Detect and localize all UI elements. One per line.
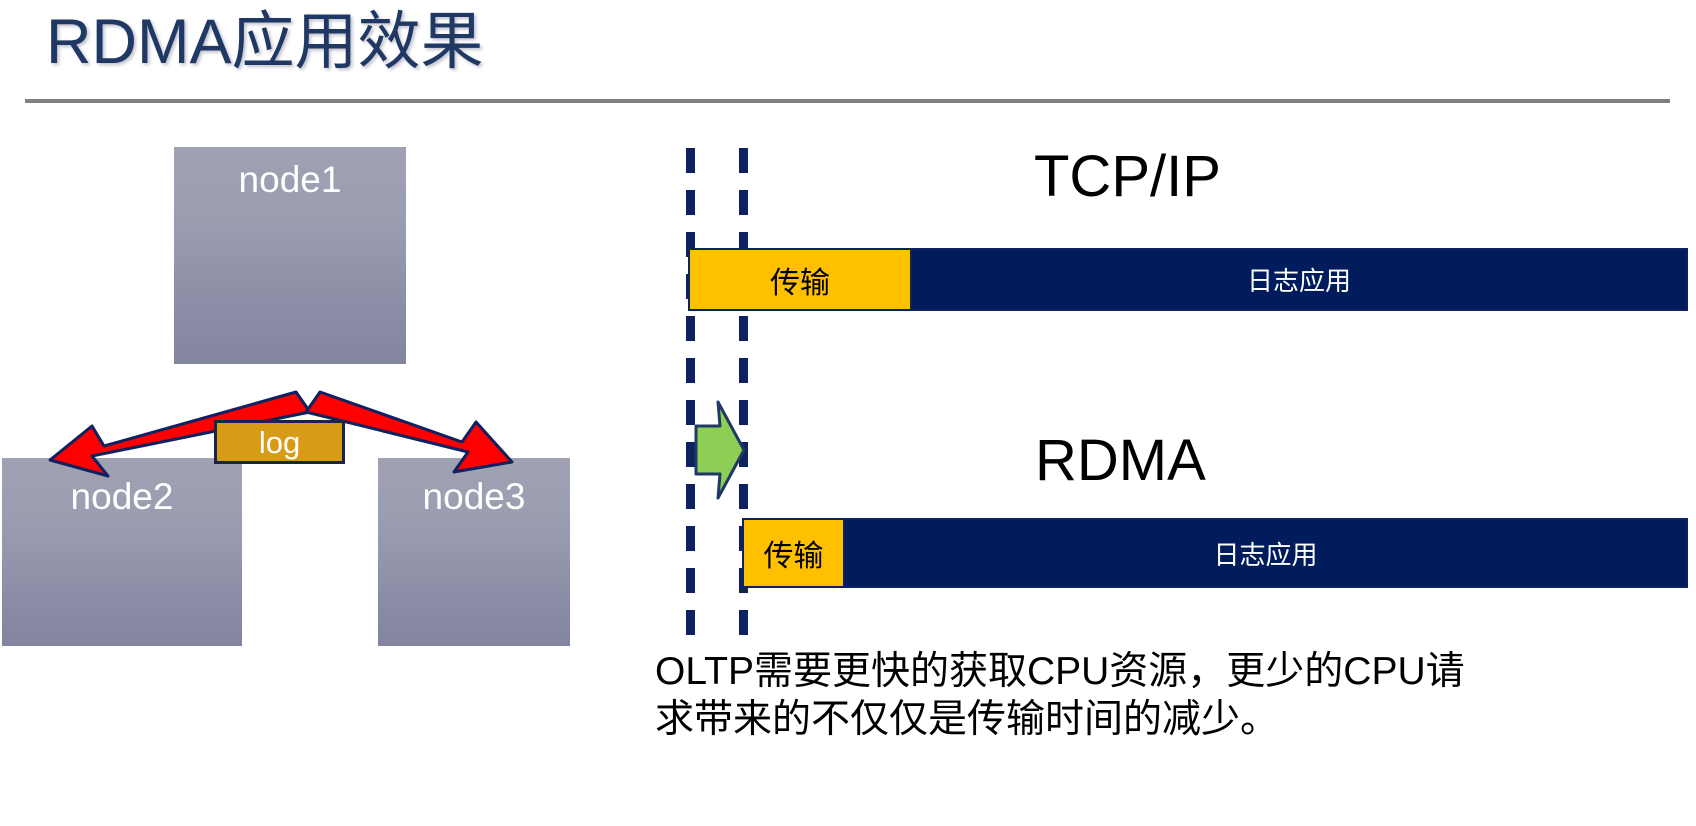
- node1-label: node1: [174, 147, 406, 201]
- title-divider: [25, 99, 1670, 103]
- speedup-arrow-icon: [690, 400, 748, 500]
- segment-transfer-rdma: 传输: [742, 518, 845, 588]
- page-title: RDMA应用效果: [46, 4, 484, 80]
- segment-apply-tcpip: 日志应用: [912, 248, 1688, 311]
- segment-transfer-tcpip: 传输: [688, 248, 912, 311]
- diagram-node-node1: node1: [174, 147, 406, 364]
- caption-line-2: 求带来的不仅仅是传输时间的减少。: [655, 696, 1675, 744]
- protocol-label-rdma: RDMA: [1035, 427, 1206, 494]
- timeline-bar-rdma: 传输 日志应用: [742, 518, 1688, 588]
- timeline-bar-tcpip: 传输 日志应用: [688, 248, 1688, 311]
- slide-caption: OLTP需要更快的获取CPU资源，更少的CPU请 求带来的不仅仅是传输时间的减少…: [655, 648, 1675, 744]
- slide-canvas: RDMA应用效果 node1 node2 node3 log TCP/IP RD…: [0, 0, 1696, 826]
- timeline-guide-start: [686, 148, 695, 648]
- protocol-label-tcpip: TCP/IP: [1034, 143, 1221, 210]
- segment-apply-rdma: 日志应用: [845, 518, 1688, 588]
- log-box-label: log: [259, 425, 300, 460]
- log-box: log: [214, 420, 345, 464]
- caption-line-1: OLTP需要更快的获取CPU资源，更少的CPU请: [655, 648, 1675, 696]
